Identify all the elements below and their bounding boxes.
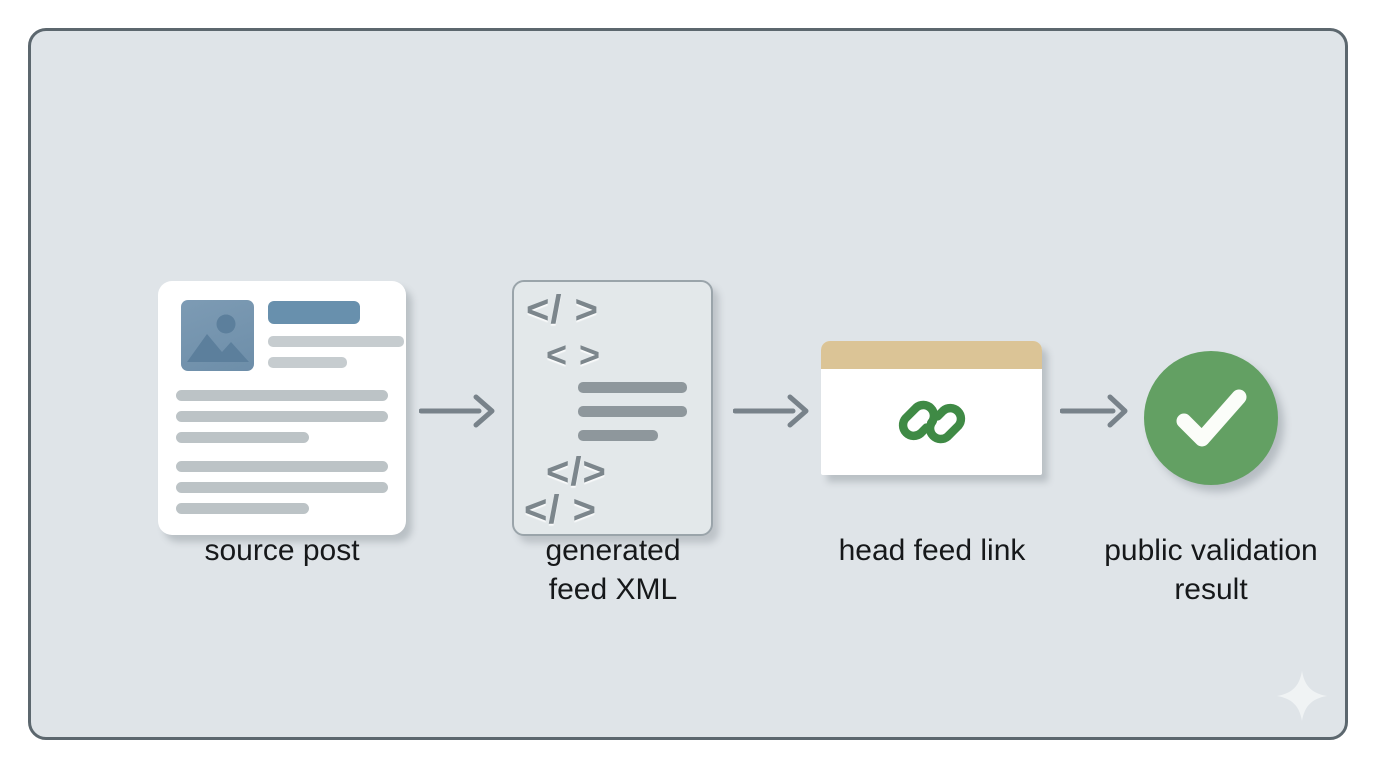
browser-titlebar bbox=[821, 341, 1042, 369]
node-head-feed-link[interactable] bbox=[821, 341, 1042, 475]
body-line-4 bbox=[176, 461, 388, 472]
diagram-panel: source post </ > < > </> </ > generated … bbox=[28, 28, 1348, 740]
code-glyph-1: </ > bbox=[526, 288, 599, 333]
body-line-3 bbox=[176, 432, 309, 443]
node-source-post[interactable] bbox=[158, 281, 406, 535]
label-public-validation-result: public validation result bbox=[1073, 531, 1348, 609]
code-glyph-4: </ > bbox=[524, 488, 597, 533]
body-line-2 bbox=[176, 411, 388, 422]
check-icon bbox=[1165, 372, 1257, 464]
node-generated-feed-xml[interactable]: </ > < > </> </ > bbox=[512, 280, 713, 536]
subtitle-bar-1 bbox=[268, 336, 404, 347]
headline-bar bbox=[268, 301, 360, 324]
arrow-right-icon-1 bbox=[419, 394, 499, 428]
code-line-1 bbox=[578, 382, 687, 393]
label-generated-feed-xml: generated feed XML bbox=[487, 531, 739, 609]
arrow-right-icon-3 bbox=[1060, 394, 1132, 428]
code-line-3 bbox=[578, 430, 658, 441]
code-glyph-2: < > bbox=[546, 334, 601, 376]
code-line-2 bbox=[578, 406, 687, 417]
link-chain-icon bbox=[879, 369, 985, 475]
subtitle-bar-2 bbox=[268, 357, 347, 368]
image-placeholder-icon bbox=[181, 300, 254, 371]
arrow-right-icon-2 bbox=[733, 394, 813, 428]
diagram-canvas: source post </ > < > </> </ > generated … bbox=[0, 0, 1376, 768]
body-line-6 bbox=[176, 503, 309, 514]
node-public-validation-result[interactable] bbox=[1144, 351, 1278, 485]
body-line-1 bbox=[176, 390, 388, 401]
label-source-post: source post bbox=[151, 531, 413, 570]
label-head-feed-link: head feed link bbox=[806, 531, 1058, 570]
pipeline-flow: source post </ > < > </> </ > generated … bbox=[31, 31, 1345, 737]
body-line-5 bbox=[176, 482, 388, 493]
